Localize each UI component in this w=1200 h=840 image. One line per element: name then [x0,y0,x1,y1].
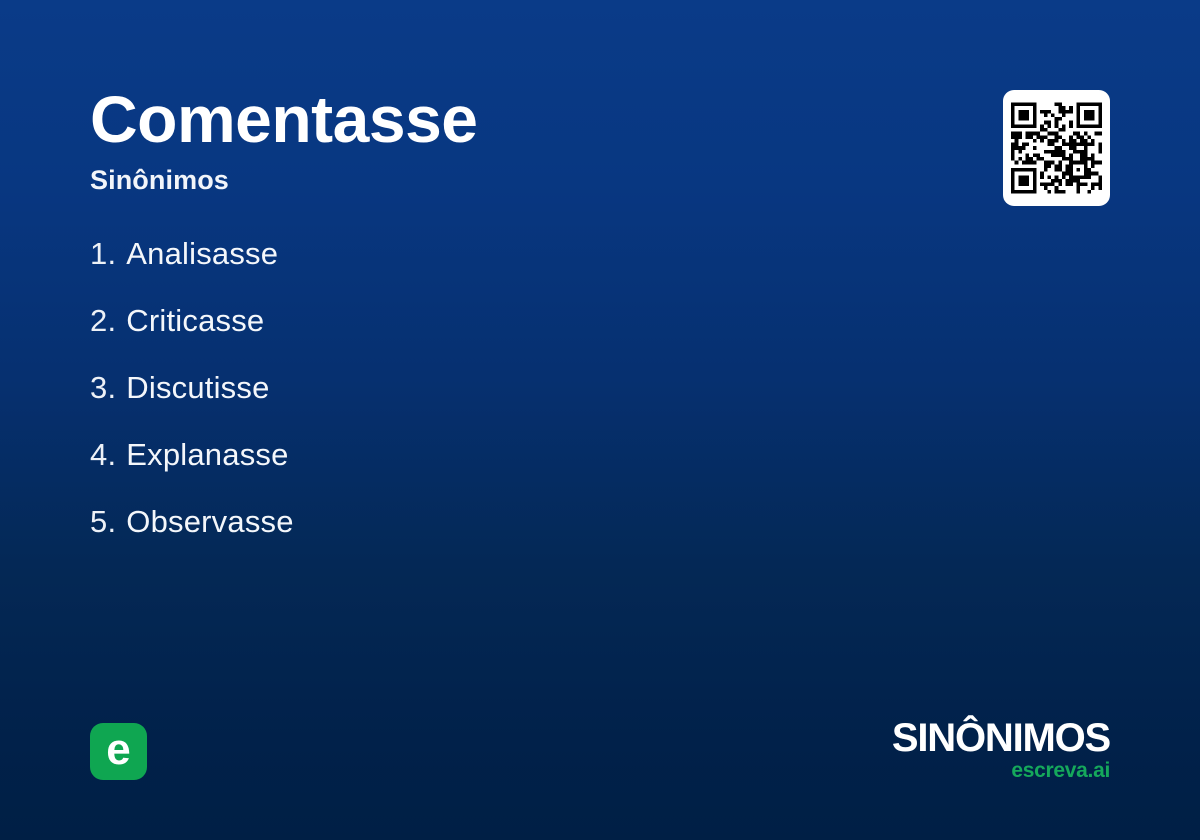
brand-tagline: escreva.ai [892,760,1110,781]
list-item-word: Criticasse [126,303,264,339]
page-subtitle: Sinônimos [90,165,790,196]
qr-code-icon [1011,99,1102,197]
list-item-index: 4. [90,437,116,473]
page-title: Comentasse [90,86,790,152]
list-item-word: Observasse [126,504,293,540]
escreva-e-logo-icon[interactable]: e [90,723,147,780]
app-badge-letter: e [106,728,130,772]
list-item: 5. Observasse [90,504,850,571]
list-item-word: Discutisse [126,370,269,406]
list-item-index: 3. [90,370,116,406]
list-item-index: 5. [90,504,116,540]
synonym-list: 1. Analisasse 2. Criticasse 3. Discutiss… [90,236,850,571]
list-item: 1. Analisasse [90,236,850,303]
card-header: Comentasse Sinônimos [90,86,790,196]
list-item: 3. Discutisse [90,370,850,437]
list-item-index: 2. [90,303,116,339]
list-item: 2. Criticasse [90,303,850,370]
qr-code[interactable] [1003,90,1110,206]
brand-name: SINÔNIMOS [892,718,1110,758]
list-item-word: Explanasse [126,437,288,473]
synonym-card: Comentasse Sinônimos 1. Analisasse 2. Cr… [0,0,1200,840]
list-item: 4. Explanasse [90,437,850,504]
list-item-index: 1. [90,236,116,272]
list-item-word: Analisasse [126,236,278,272]
brand-logo: SINÔNIMOS escreva.ai [892,718,1110,781]
